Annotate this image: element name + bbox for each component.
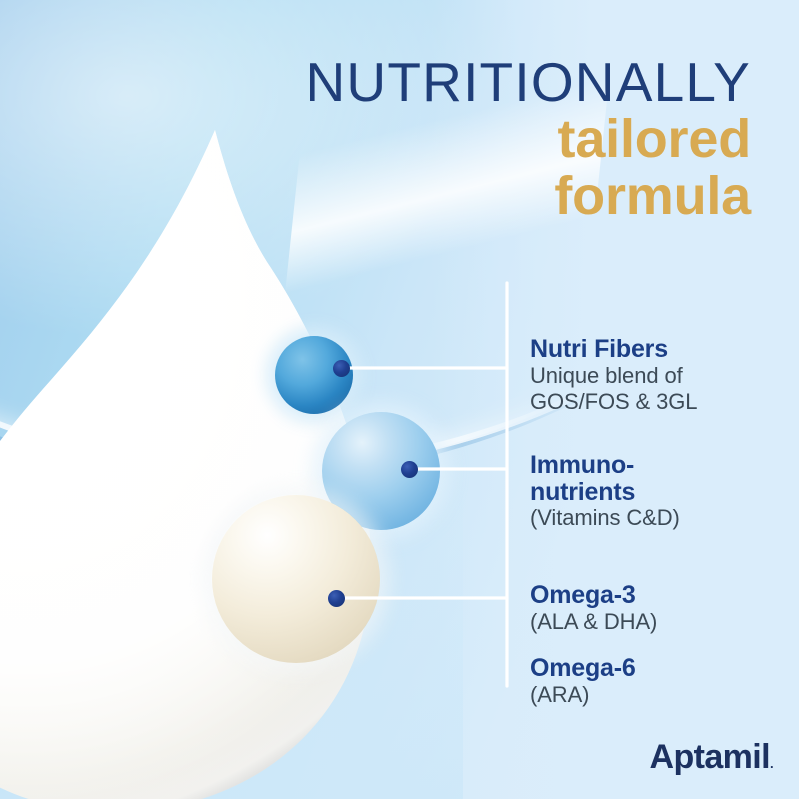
aptamil-logo-text: Aptamil xyxy=(650,738,770,776)
headline-line-3: formula xyxy=(306,168,751,226)
marker-dot-nutri-fibers xyxy=(333,360,350,377)
callout-subtitle-nutri-fibers-line1: Unique blend of xyxy=(530,363,697,389)
callout-title-nutri-fibers: Nutri Fibers xyxy=(530,336,697,363)
callout-subtitle-immuno: (Vitamins C&D) xyxy=(530,505,680,531)
callout-nutri-fibers: Nutri Fibers Unique blend of GOS/FOS & 3… xyxy=(530,336,697,415)
callout-omega-3: Omega-3 (ALA & DHA) xyxy=(530,582,657,635)
callout-title-immuno-line1: Immuno- xyxy=(530,452,680,479)
marker-dot-omega xyxy=(328,590,345,607)
callout-title-immuno-line2: nutrients xyxy=(530,479,680,506)
callout-subtitle-omega-3: (ALA & DHA) xyxy=(530,609,657,635)
callout-subtitle-nutri-fibers-line2: GOS/FOS & 3GL xyxy=(530,389,697,415)
cream-sphere xyxy=(212,495,380,663)
aptamil-logo: Aptamil. xyxy=(650,738,774,777)
aptamil-logo-trademark: . xyxy=(770,756,773,771)
callout-omega-6: Omega-6 (ARA) xyxy=(530,655,636,708)
headline-line-2: tailored xyxy=(306,111,751,169)
callout-subtitle-omega-6: (ARA) xyxy=(530,682,636,708)
callout-title-omega-6: Omega-6 xyxy=(530,655,636,682)
infographic-canvas: NUTRITIONALLY tailored formula Nutri Fib… xyxy=(0,0,799,799)
headline-line-1: NUTRITIONALLY xyxy=(306,54,751,111)
callout-immuno-nutrients: Immuno- nutrients (Vitamins C&D) xyxy=(530,452,680,531)
headline: NUTRITIONALLY tailored formula xyxy=(306,54,751,226)
marker-dot-immuno-nutrients xyxy=(401,461,418,478)
callout-title-omega-3: Omega-3 xyxy=(530,582,657,609)
